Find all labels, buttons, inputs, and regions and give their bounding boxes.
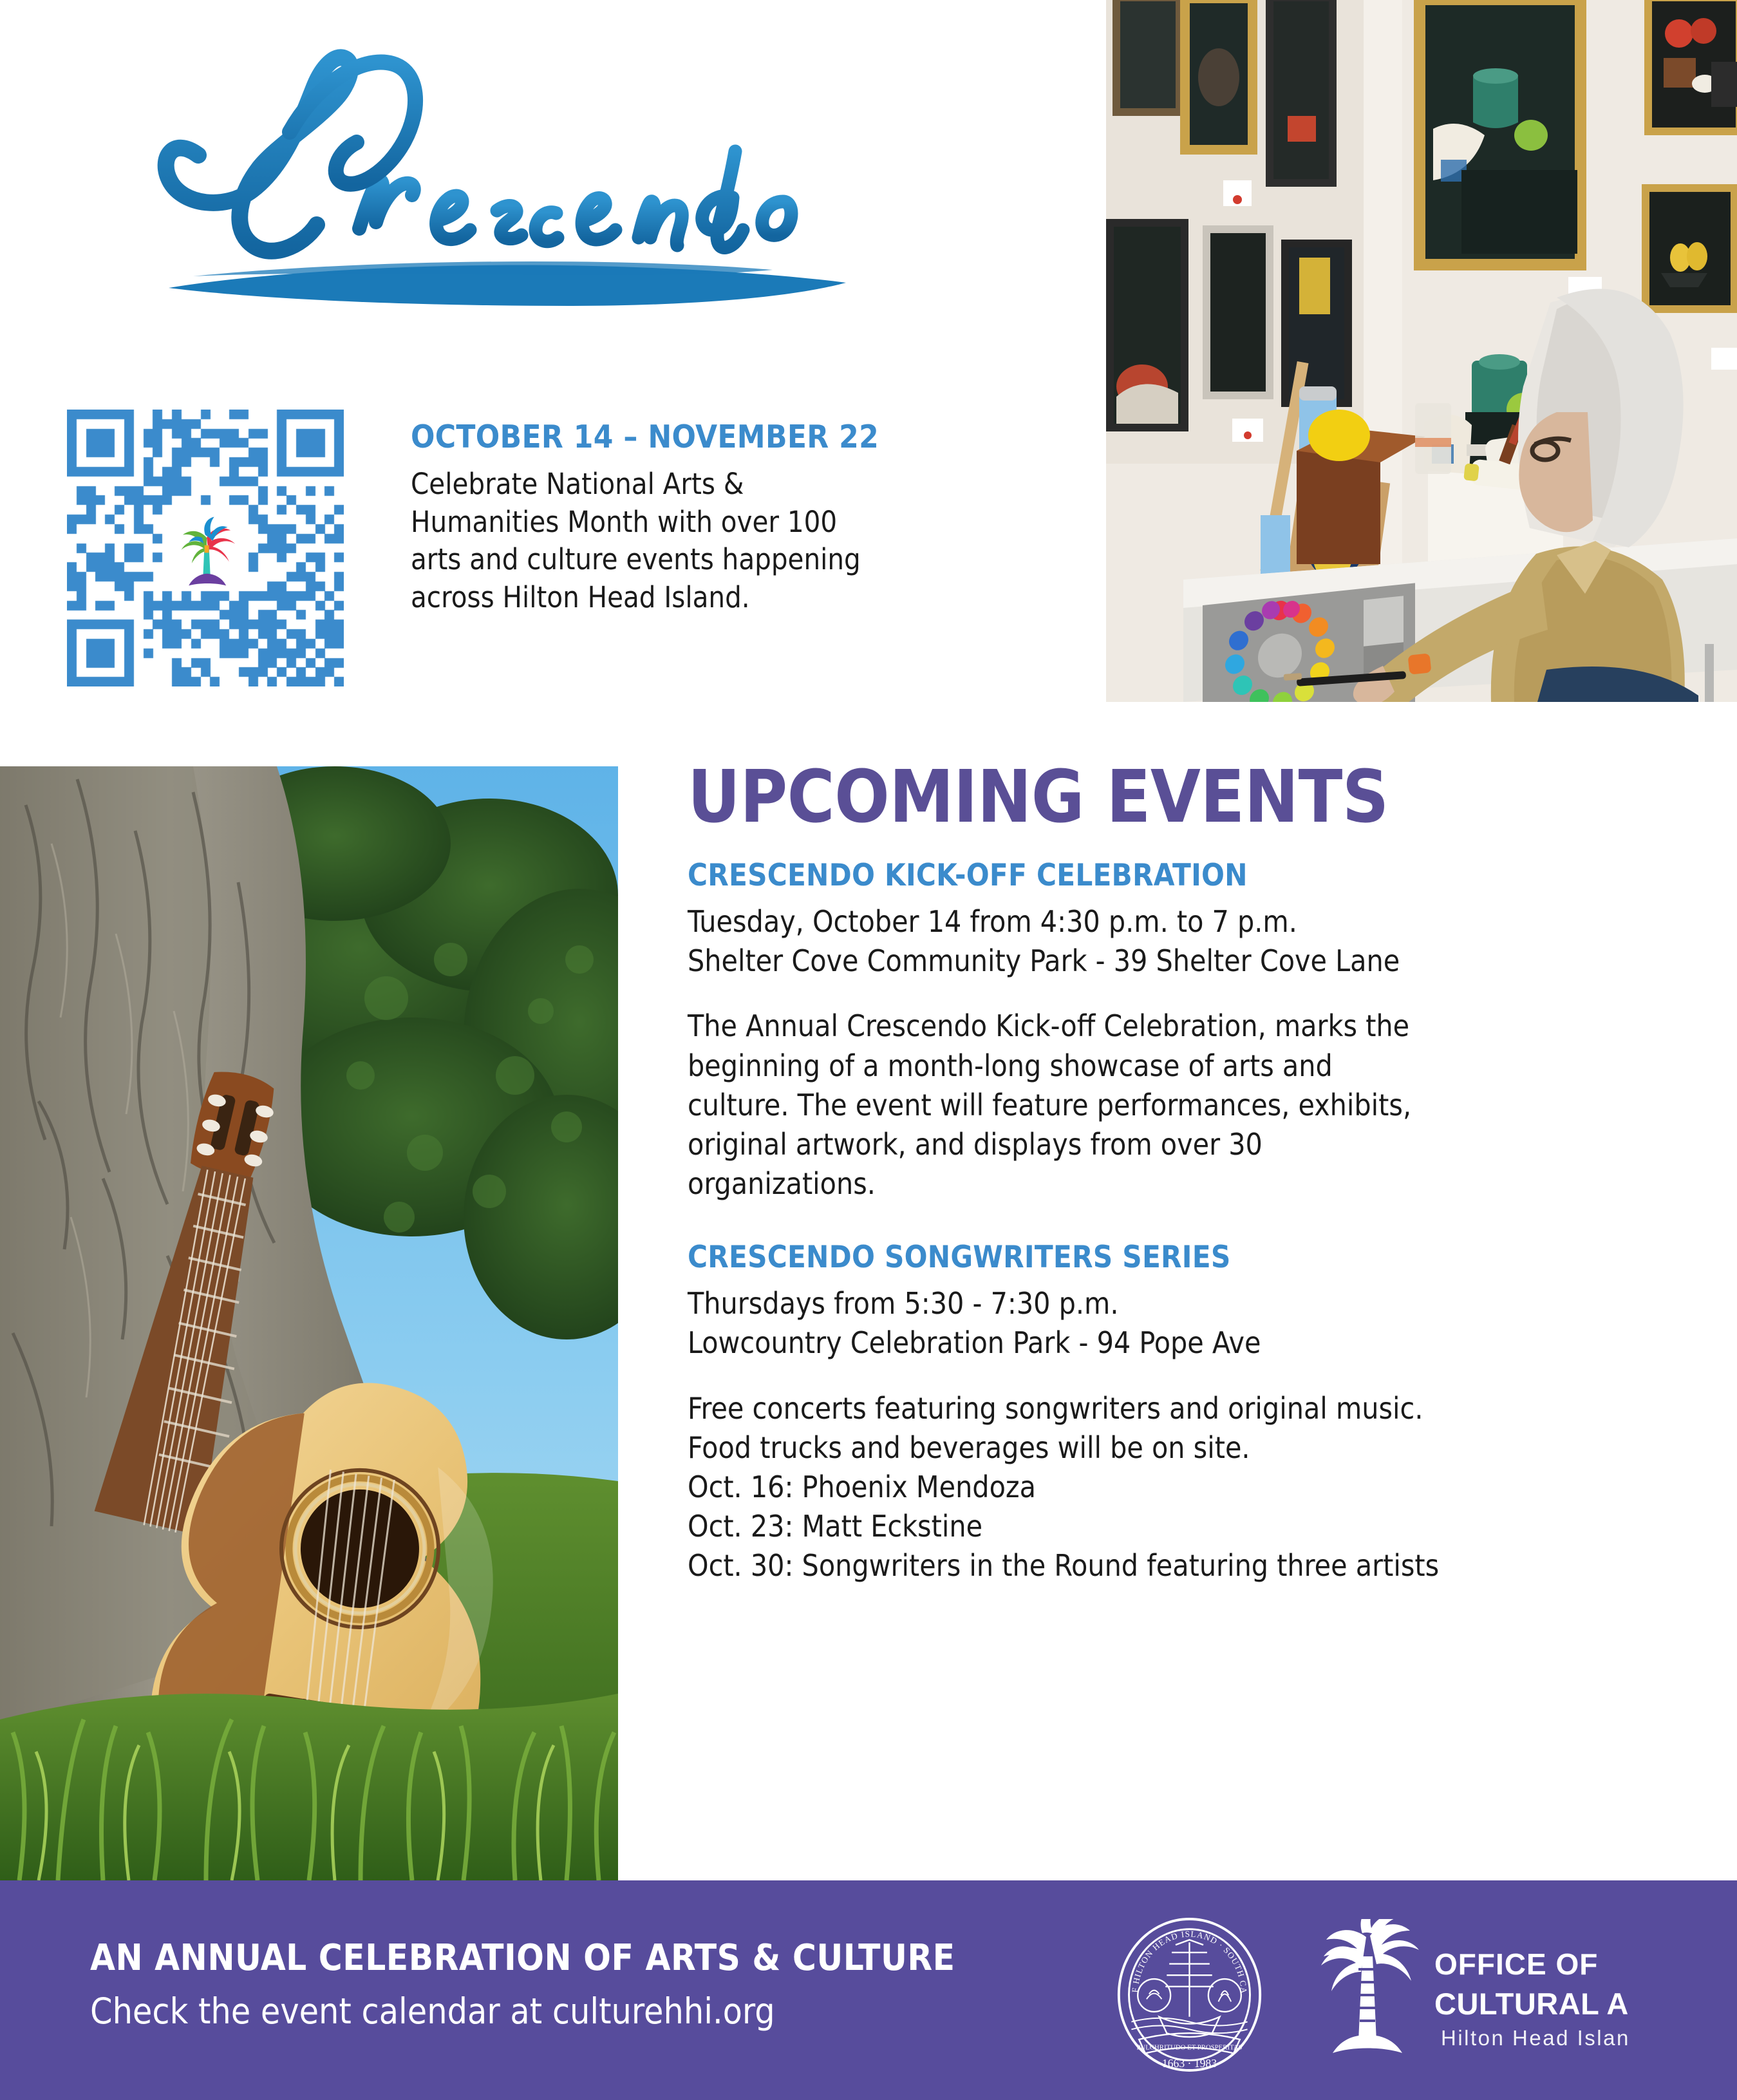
event-location: Lowcountry Celebration Park - 94 Pope Av…: [688, 1323, 1640, 1363]
event-heading: CRESCENDO SONGWRITERS SERIES: [688, 1240, 1640, 1275]
event-desc-line-5: organizations.: [688, 1164, 1640, 1204]
intro-line-2: Humanities Month with over 100: [411, 504, 1009, 542]
festival-dates: OCTOBER 14 – NOVEMBER 22: [411, 419, 1009, 455]
event-datetime: Tuesday, October 14 from 4:30 p.m. to 7 …: [688, 902, 1640, 941]
event-heading: CRESCENDO KICK-OFF CELEBRATION: [688, 858, 1640, 893]
svg-text:TOWN OF HILTON HEAD ISLAND · S: TOWN OF HILTON HEAD ISLAND · SOUTH CAROL…: [1114, 1916, 1249, 1994]
gallery-artist-illustration: [1106, 0, 1737, 702]
palmetto-tree-icon: [1321, 1919, 1419, 2053]
lineup-item: Oct. 30: Songwriters in the Round featur…: [688, 1546, 1640, 1585]
office-of-cultural-affairs-logo: OFFICE OF CULTURAL AFFAIRS Hilton Head I…: [1294, 1919, 1629, 2074]
intro-line-4: across Hilton Head Island.: [411, 579, 1009, 617]
seal-motto: PULCHRITUDO ET PROSPERITAS: [1136, 2044, 1242, 2052]
event-datetime: Thursdays from 5:30 - 7:30 p.m.: [688, 1284, 1640, 1323]
event-location: Shelter Cove Community Park - 39 Shelter…: [688, 941, 1640, 981]
intro-block: OCTOBER 14 – NOVEMBER 22 Celebrate Natio…: [411, 419, 1009, 616]
brush-stroke-icon: [169, 261, 846, 306]
crescendo-logo: [97, 35, 1011, 364]
page-title: UPCOMING EVENTS: [688, 761, 1640, 833]
upcoming-events-section: UPCOMING EVENTS CRESCENDO KICK-OFF CELEB…: [688, 761, 1640, 1585]
crescendo-wordmark-icon: [97, 35, 856, 325]
footer-tagline: AN ANNUAL CELEBRATION OF ARTS & CULTURE: [90, 1937, 1043, 1979]
oca-line-2: CULTURAL AFFAIRS: [1434, 1987, 1629, 2021]
event-desc-line-2: Food trucks and beverages will be on sit…: [688, 1428, 1640, 1468]
event-desc-line-1: The Annual Crescendo Kick-off Celebratio…: [688, 1007, 1640, 1046]
footer-cta[interactable]: Check the event calendar at culturehhi.o…: [90, 1991, 1043, 2032]
gallery-artist-photo: [1106, 0, 1737, 702]
town-of-hilton-head-island-seal-icon: TOWN OF HILTON HEAD ISLAND · SOUTH CAROL…: [1114, 1916, 1265, 2074]
event-card-songwriters: CRESCENDO SONGWRITERS SERIES Thursdays f…: [688, 1240, 1640, 1585]
event-desc-line-1: Free concerts featuring songwriters and …: [688, 1389, 1640, 1428]
section-spacer: [688, 1204, 1640, 1240]
event-desc-line-4: original artwork, and displays from over…: [688, 1125, 1640, 1164]
lineup-item: Oct. 16: Phoenix Mendoza: [688, 1468, 1640, 1507]
qr-code[interactable]: [67, 410, 344, 686]
palm-tree-icon: [169, 512, 244, 595]
event-desc-line-3: culture. The event will feature performa…: [688, 1086, 1640, 1125]
seal-ring-text: TOWN OF HILTON HEAD ISLAND · SOUTH CAROL…: [1114, 1916, 1249, 1994]
event-description: Free concerts featuring songwriters and …: [688, 1389, 1640, 1586]
lineup-item: Oct. 23: Matt Eckstine: [688, 1507, 1640, 1546]
oca-line-1: OFFICE OF: [1434, 1947, 1598, 1981]
intro-description: Celebrate National Arts & Humanities Mon…: [411, 466, 1009, 616]
intro-line-3: arts and culture events happening: [411, 541, 1009, 579]
footer-text-block: AN ANNUAL CELEBRATION OF ARTS & CULTURE …: [90, 1937, 1043, 2032]
event-card-kickoff: CRESCENDO KICK-OFF CELEBRATION Tuesday, …: [688, 858, 1640, 1204]
seal-years: 1663 · 1983: [1162, 2057, 1217, 2070]
footer-bar: AN ANNUAL CELEBRATION OF ARTS & CULTURE …: [0, 1880, 1737, 2100]
oca-logo-svg: OFFICE OF CULTURAL AFFAIRS Hilton Head I…: [1294, 1919, 1629, 2074]
oca-line-3: Hilton Head Island: [1441, 2026, 1629, 2050]
intro-line-1: Celebrate National Arts &: [411, 466, 1009, 504]
guitar-tree-photo: [0, 766, 618, 1880]
event-desc-line-2: beginning of a month-long showcase of ar…: [688, 1046, 1640, 1086]
event-description: The Annual Crescendo Kick-off Celebratio…: [688, 1007, 1640, 1204]
guitar-tree-illustration: [0, 766, 618, 1880]
